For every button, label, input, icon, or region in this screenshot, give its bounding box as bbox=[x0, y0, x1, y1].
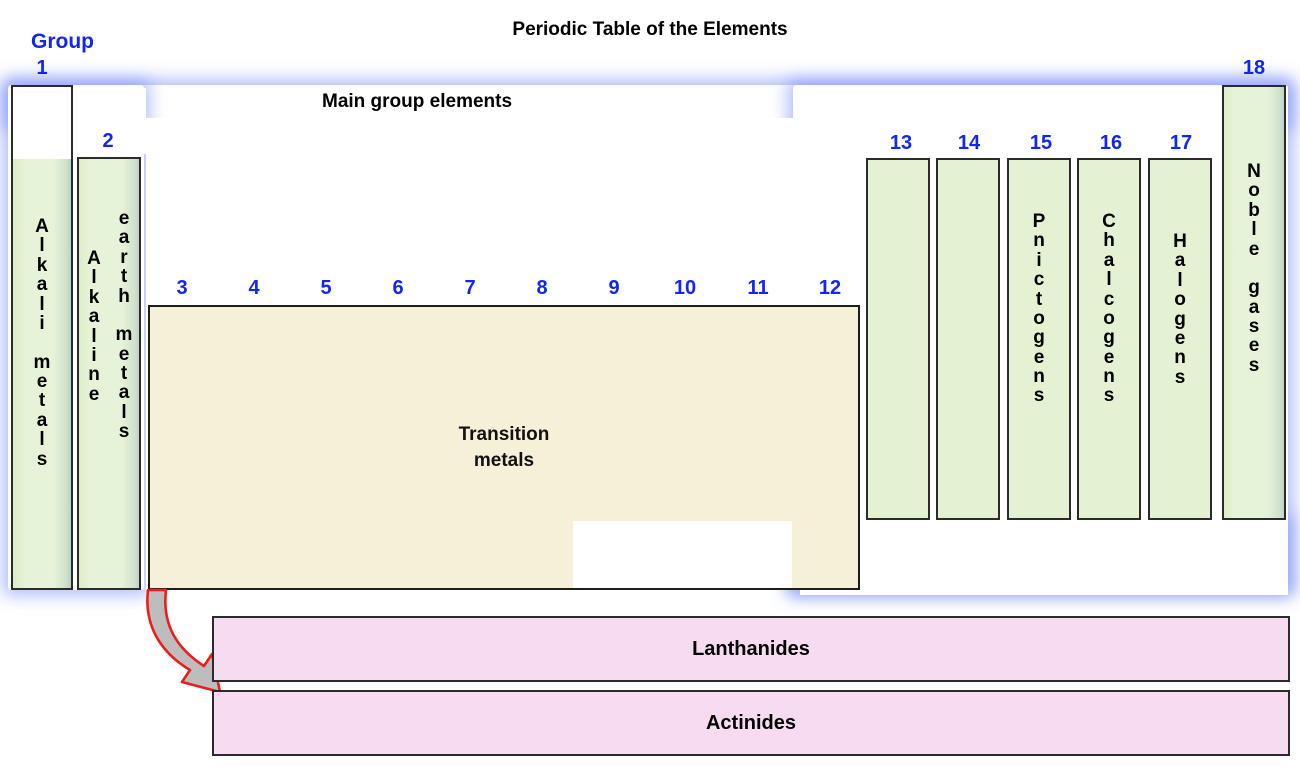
group-number-4: 4 bbox=[233, 277, 275, 300]
group-number-2: 2 bbox=[87, 130, 129, 153]
group-number-12: 12 bbox=[806, 277, 854, 300]
transition-metals-line2: metals bbox=[474, 450, 534, 471]
actinides-bar[interactable]: Actinides bbox=[212, 690, 1290, 756]
group-number-14: 14 bbox=[945, 132, 993, 155]
chalcogens-label: Chalcogens bbox=[1079, 212, 1139, 406]
group-number-8: 8 bbox=[521, 277, 563, 300]
actinides-label: Actinides bbox=[706, 712, 796, 735]
lanthanides-label: Lanthanides bbox=[692, 638, 810, 661]
pnictogens-label: Pnictogens bbox=[1009, 212, 1069, 406]
earth-metals-label: earth metals bbox=[109, 209, 139, 442]
column-group-17[interactable]: Halogens bbox=[1148, 158, 1212, 520]
column-group-14[interactable] bbox=[936, 158, 1000, 520]
group-number-3: 3 bbox=[161, 277, 203, 300]
column-group-15[interactable]: Pnictogens bbox=[1007, 158, 1071, 520]
group-number-10: 10 bbox=[661, 277, 709, 300]
group-number-15: 15 bbox=[1017, 132, 1065, 155]
transition-metals-line1: Transition bbox=[459, 424, 550, 445]
noble-gases-label: Noble gases bbox=[1224, 162, 1284, 375]
transition-metals-notch bbox=[573, 521, 792, 588]
halogens-label: Halogens bbox=[1150, 232, 1210, 387]
column-group-18[interactable]: Noble gases bbox=[1222, 85, 1286, 520]
group-number-11: 11 bbox=[734, 277, 782, 300]
group-number-17: 17 bbox=[1157, 132, 1205, 155]
group-number-18: 18 bbox=[1230, 57, 1278, 80]
hydrogen-cell-area bbox=[13, 87, 71, 159]
lanthanides-bar[interactable]: Lanthanides bbox=[212, 616, 1290, 682]
group-number-9: 9 bbox=[593, 277, 635, 300]
column-group-13[interactable] bbox=[866, 158, 930, 520]
transition-metals-label: Transition metals bbox=[150, 422, 858, 473]
group-caption: Group bbox=[31, 30, 94, 54]
column-group-1[interactable]: Alkali metals bbox=[11, 85, 73, 590]
group-number-7: 7 bbox=[449, 277, 491, 300]
group-number-6: 6 bbox=[377, 277, 419, 300]
page-title: Periodic Table of the Elements bbox=[0, 19, 1300, 41]
group-number-16: 16 bbox=[1087, 132, 1135, 155]
column-group-2[interactable]: Alkaline earth metals bbox=[77, 157, 141, 590]
alkaline-label: Alkaline bbox=[79, 249, 109, 404]
main-group-label: Main group elements bbox=[322, 91, 512, 113]
group-number-1: 1 bbox=[21, 57, 63, 80]
group-number-5: 5 bbox=[305, 277, 347, 300]
group-number-13: 13 bbox=[877, 132, 925, 155]
periodic-table-diagram: Periodic Table of the Elements Group Mai… bbox=[0, 0, 1300, 767]
alkali-metals-label: Alkali metals bbox=[13, 217, 71, 469]
column-group-16[interactable]: Chalcogens bbox=[1077, 158, 1141, 520]
